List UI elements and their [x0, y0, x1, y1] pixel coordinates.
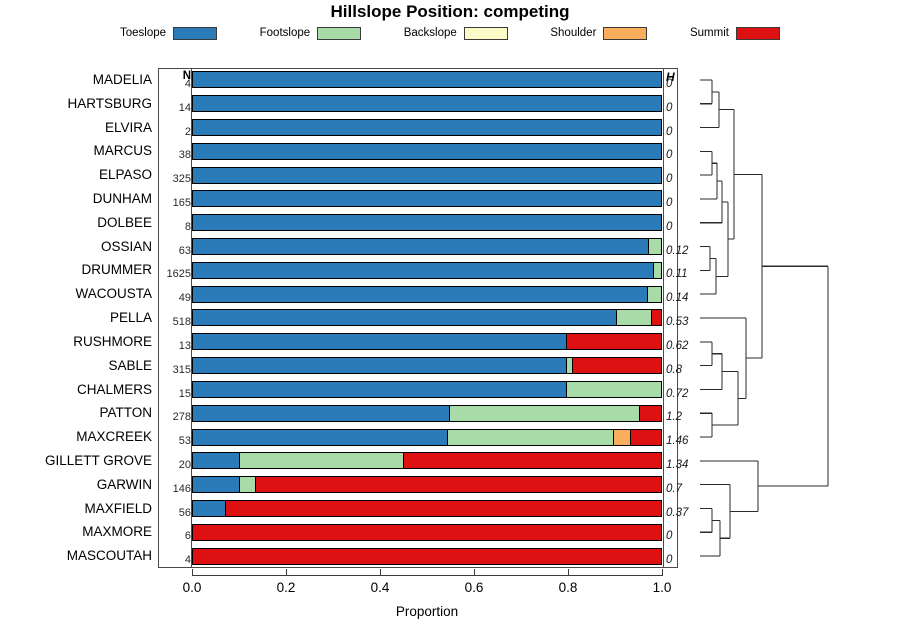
row-label-maxfield: MAXFIELD — [0, 497, 152, 521]
row-label-drummer: DRUMMER — [0, 258, 152, 282]
legend-item-toeslope[interactable]: Toeslope — [120, 27, 217, 40]
stacked-bar[interactable] — [192, 309, 662, 326]
stacked-bar[interactable] — [192, 214, 662, 231]
row-label-patton: PATTON — [0, 401, 152, 425]
x-tick-label: 1.0 — [632, 580, 692, 595]
legend-label: Footslope — [260, 27, 311, 39]
row-label-maxmore: MAXMORE — [0, 520, 152, 544]
dendrogram — [690, 60, 900, 576]
bar-segment — [193, 310, 617, 325]
bar-segment — [193, 501, 226, 516]
bar-segment — [193, 191, 661, 206]
stacked-bar[interactable] — [192, 95, 662, 112]
bar-segment — [567, 334, 661, 349]
stacked-bar[interactable] — [192, 238, 662, 255]
x-tick-label: 0.0 — [162, 580, 222, 595]
legend-swatch-icon — [317, 27, 361, 40]
x-tick-mark — [662, 569, 663, 576]
row-label-marcus: MARCUS — [0, 139, 152, 163]
stacked-bar[interactable] — [192, 119, 662, 136]
stacked-bar[interactable] — [192, 524, 662, 541]
x-tick-label: 0.8 — [538, 580, 598, 595]
bar-segment — [193, 239, 649, 254]
stacked-bar[interactable] — [192, 476, 662, 493]
row-label-maxcreek: MAXCREEK — [0, 425, 152, 449]
stacked-bar[interactable] — [192, 262, 662, 279]
stacked-bar[interactable] — [192, 452, 662, 469]
x-tick-label: 0.6 — [444, 580, 504, 595]
bar-segment — [567, 382, 661, 397]
bar-segment — [193, 144, 661, 159]
legend-label: Shoulder — [550, 27, 596, 39]
legend-item-shoulder[interactable]: Shoulder — [550, 27, 647, 40]
stacked-bar[interactable] — [192, 357, 662, 374]
bar-segment — [193, 334, 567, 349]
row-label-gillett-grove: GILLETT GROVE — [0, 449, 152, 473]
x-tick-label: 0.2 — [256, 580, 316, 595]
bar-segment — [631, 430, 661, 445]
bar-segment — [193, 263, 654, 278]
row-label-madelia: MADELIA — [0, 68, 152, 92]
bar-segment — [193, 430, 448, 445]
x-axis-line — [192, 575, 662, 576]
legend-item-backslope[interactable]: Backslope — [404, 27, 508, 40]
row-label-ossian: OSSIAN — [0, 235, 152, 259]
bar-segment — [193, 215, 661, 230]
bar-segment — [256, 477, 661, 492]
x-tick-mark — [192, 569, 193, 576]
bar-segment — [193, 358, 567, 373]
stacked-bar[interactable] — [192, 190, 662, 207]
bar-segment — [193, 96, 661, 111]
row-label-elvira: ELVIRA — [0, 116, 152, 140]
bar-segment — [573, 358, 661, 373]
legend-label: Toeslope — [120, 27, 166, 39]
bar-segment — [193, 287, 648, 302]
legend-label: Backslope — [404, 27, 457, 39]
bar-segment — [640, 406, 661, 421]
bar-segment — [649, 239, 661, 254]
row-label-hartsburg: HARTSBURG — [0, 92, 152, 116]
chart-title: Hillslope Position: competing — [0, 2, 900, 22]
legend-swatch-icon — [464, 27, 508, 40]
bar-segment — [652, 310, 661, 325]
bar-segment — [193, 168, 661, 183]
bar-segment — [240, 453, 404, 468]
bar-segment — [240, 477, 256, 492]
bar-segment — [648, 287, 661, 302]
row-label-garwin: GARWIN — [0, 473, 152, 497]
stacked-bar[interactable] — [192, 143, 662, 160]
stacked-bar[interactable] — [192, 381, 662, 398]
bar-segment — [193, 120, 661, 135]
row-label-elpaso: ELPASO — [0, 163, 152, 187]
legend: ToeslopeFootslopeBackslopeShoulderSummit — [120, 24, 780, 42]
bar-segment — [448, 430, 614, 445]
row-label-pella: PELLA — [0, 306, 152, 330]
legend-swatch-icon — [173, 27, 217, 40]
row-label-dolbee: DOLBEE — [0, 211, 152, 235]
stacked-bar[interactable] — [192, 333, 662, 350]
legend-item-footslope[interactable]: Footslope — [260, 27, 362, 40]
legend-swatch-icon — [736, 27, 780, 40]
bar-segment — [617, 310, 652, 325]
legend-swatch-icon — [603, 27, 647, 40]
x-tick-mark — [568, 569, 569, 576]
legend-label: Summit — [690, 27, 729, 39]
stacked-bar[interactable] — [192, 405, 662, 422]
stacked-bar[interactable] — [192, 429, 662, 446]
x-tick-mark — [380, 569, 381, 576]
bar-segment — [226, 501, 661, 516]
bar-segment — [193, 453, 240, 468]
row-label-chalmers: CHALMERS — [0, 378, 152, 402]
row-label-rushmore: RUSHMORE — [0, 330, 152, 354]
stacked-bar[interactable] — [192, 167, 662, 184]
row-label-dunham: DUNHAM — [0, 187, 152, 211]
bar-segment — [450, 406, 640, 421]
bar-segment — [614, 430, 630, 445]
row-label-sable: SABLE — [0, 354, 152, 378]
bar-segment — [193, 382, 567, 397]
row-label-mascoutah: MASCOUTAH — [0, 544, 152, 568]
bar-segment — [404, 453, 661, 468]
bar-segment — [193, 477, 240, 492]
bar-segment — [193, 549, 661, 564]
legend-item-summit[interactable]: Summit — [690, 27, 780, 40]
bar-segment — [193, 72, 661, 87]
x-tick-mark — [474, 569, 475, 576]
row-n-value: 4 — [160, 549, 191, 573]
stacked-bar[interactable] — [192, 500, 662, 517]
bar-segment — [193, 406, 450, 421]
stacked-bar[interactable] — [192, 286, 662, 303]
x-tick-mark — [286, 569, 287, 576]
x-tick-label: 0.4 — [350, 580, 410, 595]
row-label-wacousta: WACOUSTA — [0, 282, 152, 306]
bar-segment — [654, 263, 661, 278]
bar-segment — [193, 525, 661, 540]
stacked-bar[interactable] — [192, 71, 662, 88]
x-axis-label: Proportion — [192, 604, 662, 619]
stacked-bar[interactable] — [192, 548, 662, 565]
